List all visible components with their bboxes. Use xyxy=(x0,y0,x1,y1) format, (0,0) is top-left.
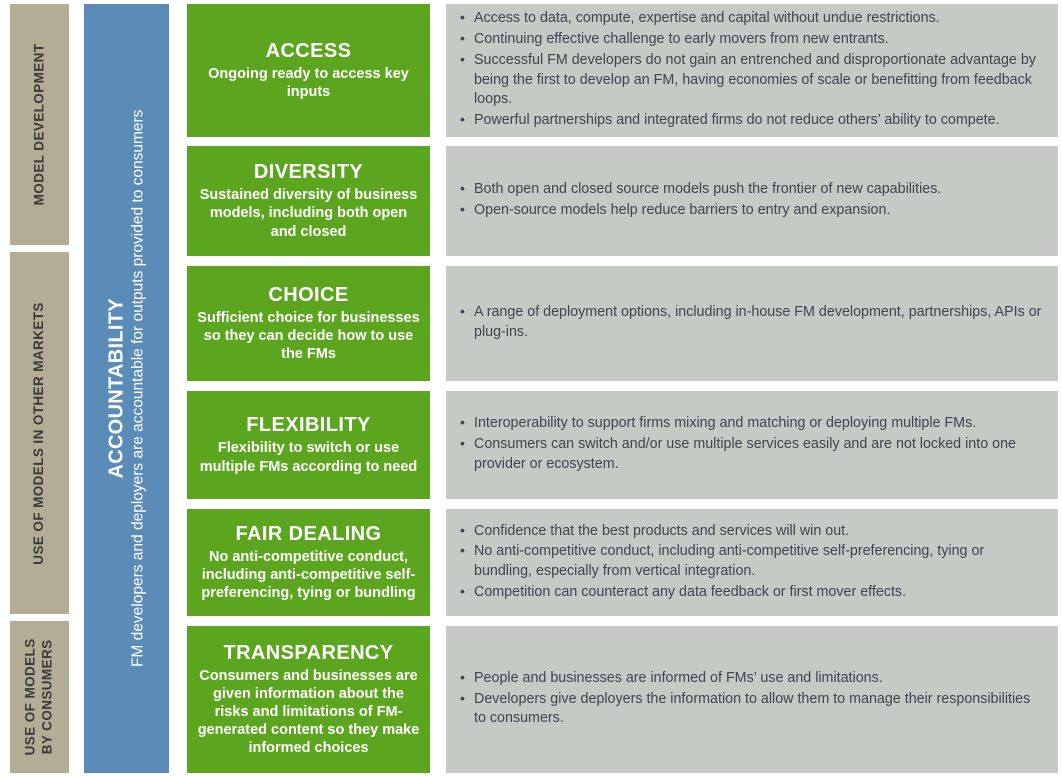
principle-description-flexibility: Flexibility to switch or use multiple FM… xyxy=(196,439,421,475)
principle-row-access: ACCESS Ongoing ready to access key input… xyxy=(187,4,1058,137)
principles-diagram: MODEL DEVELOPMENT USE OF MODELS IN OTHER… xyxy=(0,0,1062,776)
principle-row-flexibility: FLEXIBILITY Flexibility to switch or use… xyxy=(187,391,1058,499)
category-column-model-development: MODEL DEVELOPMENT xyxy=(10,4,69,245)
bullet-item: Open-source models help reduce barriers … xyxy=(458,201,1044,221)
principle-row-transparency: TRANSPARENCY Consumers and businesses ar… xyxy=(187,626,1058,773)
category-label-line2: BY CONSUMERS xyxy=(40,639,57,756)
principle-box-diversity: DIVERSITY Sustained diversity of busines… xyxy=(187,146,430,256)
principle-title-access: ACCESS xyxy=(266,40,352,63)
detail-box-fair-dealing: Confidence that the best products and se… xyxy=(446,509,1058,616)
accountability-column: ACCOUNTABILITY FM developers and deploye… xyxy=(84,4,169,773)
category-column-use-of-models-in-other-markets: USE OF MODELS IN OTHER MARKETS xyxy=(10,252,69,614)
principle-box-flexibility: FLEXIBILITY Flexibility to switch or use… xyxy=(187,391,430,499)
bullet-item: Consumers can switch and/or use multiple… xyxy=(458,435,1044,474)
principle-description-access: Ongoing ready to access key inputs xyxy=(196,65,421,101)
bullet-item: People and businesses are informed of FM… xyxy=(458,669,1044,689)
detail-box-flexibility: Interoperability to support firms mixing… xyxy=(446,391,1058,499)
bullet-list-access: Access to data, compute, expertise and c… xyxy=(458,9,1044,131)
category-label-line1: USE OF MODELS xyxy=(23,639,38,756)
principle-description-diversity: Sustained diversity of business models, … xyxy=(196,186,421,240)
detail-box-access: Access to data, compute, expertise and c… xyxy=(446,4,1058,137)
principle-box-transparency: TRANSPARENCY Consumers and businesses ar… xyxy=(187,626,430,773)
bullet-list-transparency: People and businesses are informed of FM… xyxy=(458,669,1044,730)
principle-row-diversity: DIVERSITY Sustained diversity of busines… xyxy=(187,146,1058,256)
category-column-use-of-models-by-consumers: USE OF MODELS BY CONSUMERS xyxy=(10,621,69,773)
bullet-item: Successful FM developers do not gain an … xyxy=(458,51,1044,110)
principle-title-diversity: DIVERSITY xyxy=(254,161,363,184)
category-label-line1: MODEL DEVELOPMENT xyxy=(31,44,46,206)
principle-title-transparency: TRANSPARENCY xyxy=(224,642,394,665)
principle-title-choice: CHOICE xyxy=(268,284,348,307)
bullet-list-diversity: Both open and closed source models push … xyxy=(458,180,1044,221)
bullet-list-flexibility: Interoperability to support firms mixing… xyxy=(458,414,1044,475)
principle-box-access: ACCESS Ongoing ready to access key input… xyxy=(187,4,430,137)
category-label-use-of-models-in-other-markets: USE OF MODELS IN OTHER MARKETS xyxy=(31,302,48,565)
detail-box-transparency: People and businesses are informed of FM… xyxy=(446,626,1058,773)
bullet-list-choice: A range of deployment options, including… xyxy=(458,303,1044,343)
principle-description-transparency: Consumers and businesses are given infor… xyxy=(196,667,421,758)
principle-box-choice: CHOICE Sufficient choice for businesses … xyxy=(187,266,430,381)
category-label-model-development: MODEL DEVELOPMENT xyxy=(31,44,48,206)
bullet-item: Confidence that the best products and se… xyxy=(458,522,1044,542)
category-label-line1: USE OF MODELS IN OTHER MARKETS xyxy=(31,302,46,565)
bullet-item: Developers give deployers the informatio… xyxy=(458,690,1044,729)
accountability-title: ACCOUNTABILITY xyxy=(105,110,128,667)
principle-row-fair-dealing: FAIR DEALING No anti-competitive conduct… xyxy=(187,509,1058,616)
detail-box-diversity: Both open and closed source models push … xyxy=(446,146,1058,256)
bullet-item: A range of deployment options, including… xyxy=(458,303,1044,342)
accountability-text-block: ACCOUNTABILITY FM developers and deploye… xyxy=(105,110,148,667)
bullet-item: Both open and closed source models push … xyxy=(458,180,1044,200)
accountability-subtitle: FM developers and deployers are accounta… xyxy=(129,110,148,667)
detail-box-choice: A range of deployment options, including… xyxy=(446,266,1058,381)
principle-title-fair-dealing: FAIR DEALING xyxy=(236,523,382,546)
bullet-item: Competition can counteract any data feed… xyxy=(458,583,1044,603)
bullet-item: Continuing effective challenge to early … xyxy=(458,30,1044,50)
bullet-item: Powerful partnerships and integrated fir… xyxy=(458,111,1044,131)
bullet-item: No anti-competitive conduct, including a… xyxy=(458,542,1044,581)
principle-row-choice: CHOICE Sufficient choice for businesses … xyxy=(187,266,1058,381)
category-label-use-of-models-by-consumers: USE OF MODELS BY CONSUMERS xyxy=(23,639,57,756)
principle-description-choice: Sufficient choice for businesses so they… xyxy=(196,309,421,363)
principle-title-flexibility: FLEXIBILITY xyxy=(246,414,370,437)
principle-box-fair-dealing: FAIR DEALING No anti-competitive conduct… xyxy=(187,509,430,616)
bullet-item: Access to data, compute, expertise and c… xyxy=(458,9,1044,29)
bullet-item: Interoperability to support firms mixing… xyxy=(458,414,1044,434)
bullet-list-fair-dealing: Confidence that the best products and se… xyxy=(458,522,1044,604)
principle-description-fair-dealing: No anti-competitive conduct, including a… xyxy=(196,548,421,602)
